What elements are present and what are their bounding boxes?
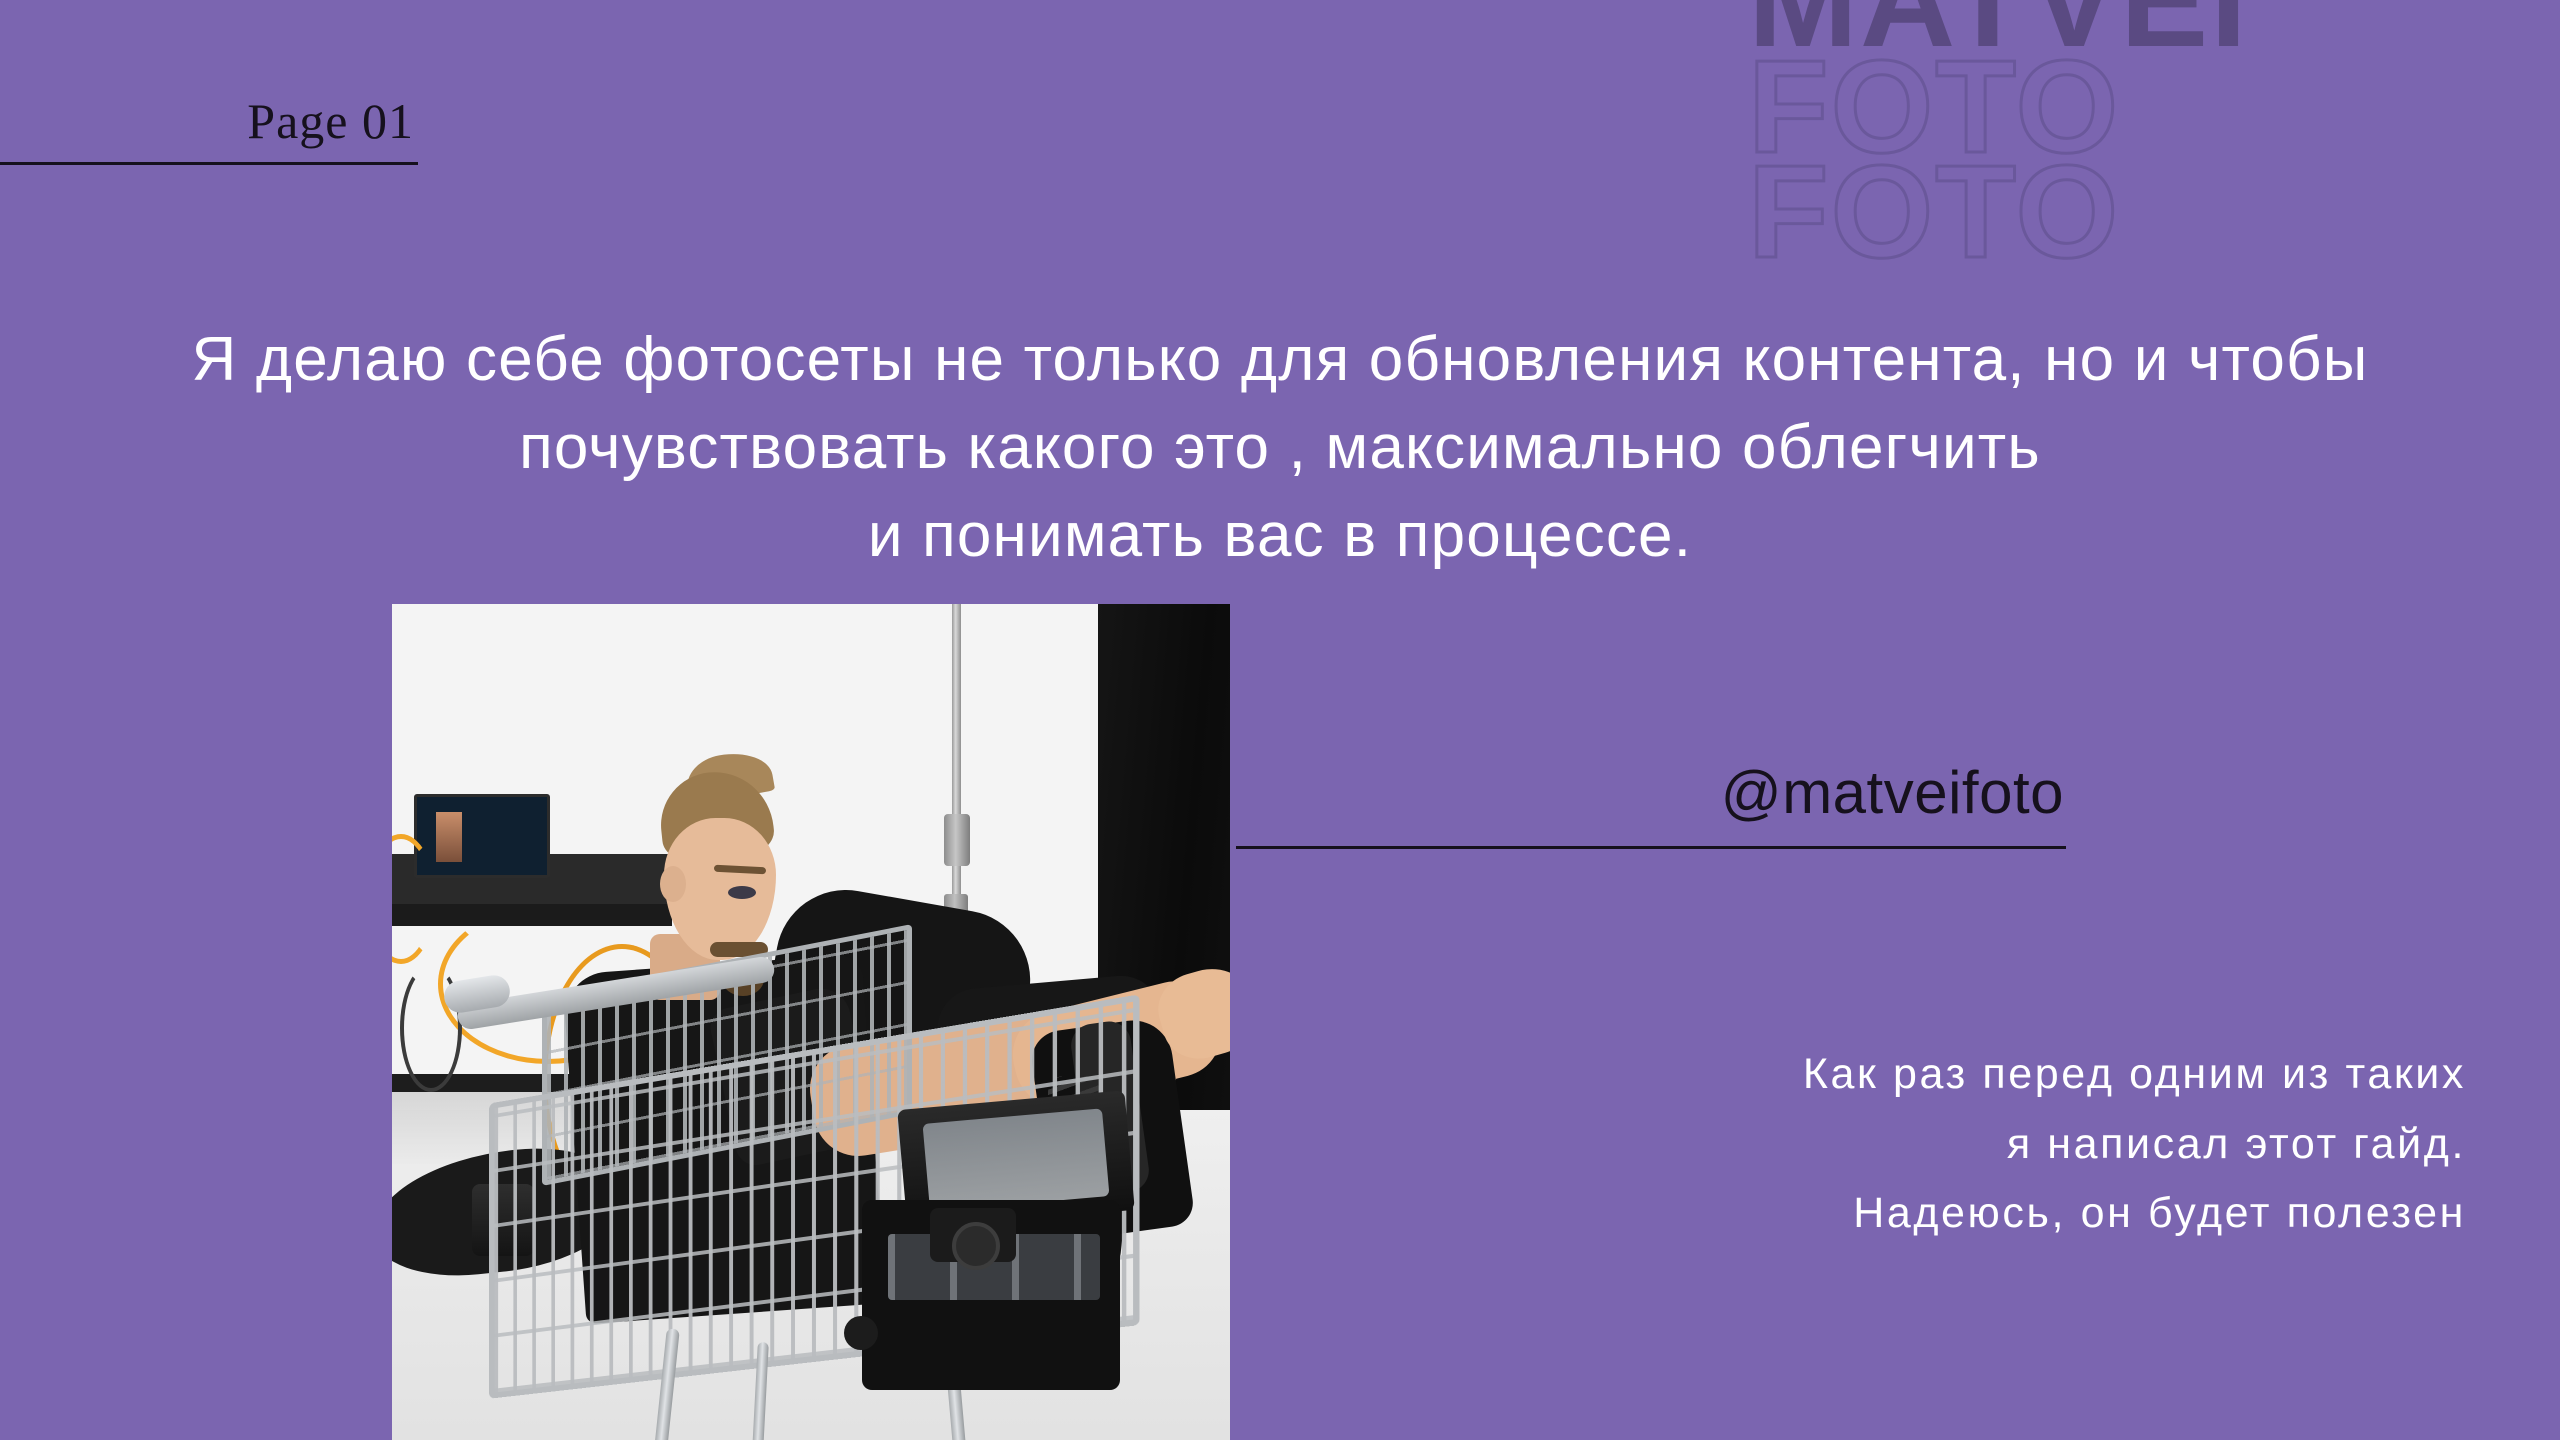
page-label-rule — [0, 162, 418, 165]
handle-rule — [1236, 846, 2066, 849]
person-eye — [728, 886, 756, 899]
note-line-1: Как раз перед одним из таких — [1466, 1040, 2466, 1110]
note-line-2: я написал этот гайд. — [1466, 1110, 2466, 1180]
handle-block: @matveifoto — [1236, 760, 2066, 849]
note-line-3: Надеюсь, он будет полезен — [1466, 1179, 2466, 1249]
slide-page-01: MATVEI FOTO FOTO Page 01 Я делаю себе фо… — [0, 0, 2560, 1440]
logo-line-matvei: MATVEI — [1748, 0, 2288, 54]
logo-line-foto-2: FOTO — [1748, 159, 2288, 265]
headline: Я делаю себе фотосеты не только для обно… — [120, 316, 2440, 580]
photo-scene — [392, 604, 1230, 1440]
closing-note: Как раз перед одним из таких я написал э… — [1466, 1040, 2466, 1249]
headline-line-3: и понимать вас в процессе. — [120, 492, 2440, 580]
laptop-icon — [414, 794, 550, 878]
headline-line-2: почувствовать какого это , максимально о… — [120, 404, 2440, 492]
camera-lens — [952, 1222, 1000, 1270]
light-stand-clamp-upper — [944, 814, 970, 866]
page-label: Page 01 — [0, 96, 418, 146]
person-ear — [660, 866, 686, 902]
laptop-screen-preview — [436, 812, 462, 862]
instagram-handle[interactable]: @matveifoto — [1236, 760, 2066, 826]
logo-line-foto-1: FOTO — [1748, 54, 2288, 160]
headline-line-1: Я делаю себе фотосеты не только для обно… — [120, 316, 2440, 404]
camera-bag-wheel — [844, 1316, 878, 1350]
camera-bag-lid-pocket — [923, 1108, 1110, 1211]
studio-photo — [392, 604, 1230, 1440]
page-label-block: Page 01 — [0, 96, 418, 165]
brand-watermark-logo: MATVEI FOTO FOTO — [1748, 0, 2288, 265]
